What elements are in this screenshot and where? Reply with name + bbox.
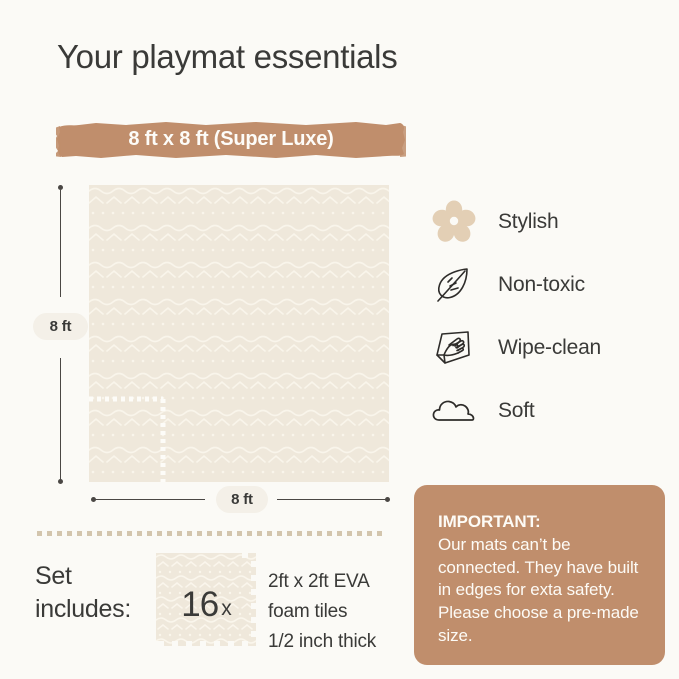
feature-label-soft: Soft	[498, 399, 535, 423]
leaf-icon	[428, 259, 480, 311]
tile-description-line3: 1/2 inch thick	[268, 627, 376, 657]
feature-item-non-toxic: Non-toxic	[428, 253, 668, 316]
set-includes-line2: includes:	[35, 593, 131, 626]
horizontal-dimension-line-left	[95, 499, 205, 500]
tile-description-line1: 2ft x 2ft EVA	[268, 567, 376, 597]
set-includes-line1: Set	[35, 560, 131, 593]
vertical-dimension-line-bottom	[60, 358, 61, 480]
mat-pattern	[89, 185, 389, 482]
vertical-dimension-line-top	[60, 190, 61, 297]
tile-count-badge: 16 x	[156, 553, 256, 656]
size-badge-label: 8 ft x 8 ft (Super Luxe)	[56, 120, 406, 160]
infographic-page: Your playmat essentials 8 ft x 8 ft (Sup…	[0, 0, 679, 679]
horizontal-dimension-label: 8 ft	[216, 486, 268, 513]
playmat-diagram	[89, 185, 389, 482]
tile-description: 2ft x 2ft EVA foam tiles 1/2 inch thick	[268, 567, 376, 657]
vertical-dimension-dot-top	[58, 185, 63, 190]
horizontal-dimension-dot-left	[91, 497, 96, 502]
vertical-dimension-label: 8 ft	[33, 313, 88, 340]
tile-count-number: 16	[181, 585, 218, 625]
important-note-heading: IMPORTANT:	[438, 511, 643, 534]
horizontal-dimension-line-right	[277, 499, 387, 500]
feature-item-stylish: Stylish	[428, 190, 668, 253]
horizontal-dimension-dot-right	[385, 497, 390, 502]
cloud-icon	[428, 385, 480, 437]
dotted-divider	[37, 531, 382, 536]
tile-description-line2: foam tiles	[268, 597, 376, 627]
feature-label-stylish: Stylish	[498, 210, 558, 234]
tile-count-multiplier: x	[221, 597, 231, 621]
size-badge: 8 ft x 8 ft (Super Luxe)	[56, 120, 406, 160]
wipe-cloth-icon	[428, 322, 480, 374]
feature-label-non-toxic: Non-toxic	[498, 273, 585, 297]
feature-item-wipe-clean: Wipe-clean	[428, 316, 668, 379]
flower-icon	[428, 196, 480, 248]
feature-item-soft: Soft	[428, 379, 668, 442]
feature-label-wipe-clean: Wipe-clean	[498, 336, 601, 360]
important-note-box: IMPORTANT: Our mats can’t be connected. …	[414, 485, 665, 665]
vertical-dimension-dot-bottom	[58, 479, 63, 484]
set-includes-label: Set includes:	[35, 560, 131, 627]
page-title: Your playmat essentials	[57, 38, 397, 76]
important-note-body: Our mats can’t be connected. They have b…	[438, 534, 643, 648]
features-list: Stylish Non-toxic	[428, 190, 668, 442]
